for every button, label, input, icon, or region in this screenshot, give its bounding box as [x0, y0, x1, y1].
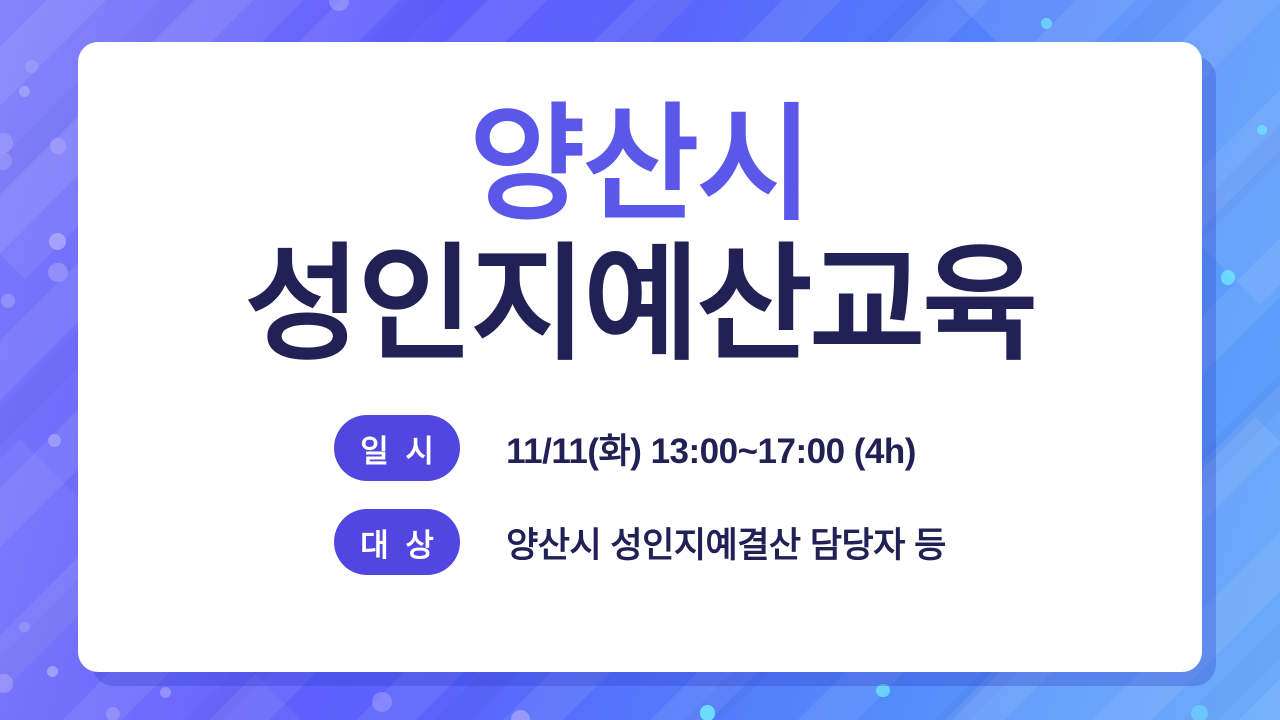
title-block: 양산시 성인지예산교육: [78, 42, 1202, 371]
info-row-value: 11/11(화) 13:00~17:00 (4h): [506, 423, 916, 474]
background-dot: [19, 86, 30, 97]
background-dot: [48, 434, 61, 447]
background-dot: [49, 233, 66, 250]
content-card: 양산시 성인지예산교육 일 시11/11(화) 13:00~17:00 (4h)…: [78, 42, 1202, 672]
background-dot: [372, 692, 392, 712]
background-dot: [1221, 270, 1235, 284]
background-dot: [25, 60, 38, 73]
page-title-main: 성인지예산교육: [78, 238, 1202, 372]
banner-stage: 양산시 성인지예산교육 일 시11/11(화) 13:00~17:00 (4h)…: [0, 0, 1280, 720]
background-dot: [50, 138, 65, 153]
page-title-accent: 양산시: [78, 98, 1202, 232]
info-row: 일 시11/11(화) 13:00~17:00 (4h): [334, 415, 946, 481]
info-row: 대 상양산시 성인지예결산 담당자 등: [334, 509, 946, 575]
background-dot: [47, 666, 58, 677]
background-dot: [1041, 18, 1052, 29]
info-row-value: 양산시 성인지예결산 담당자 등: [506, 517, 946, 568]
background-dot: [19, 622, 30, 633]
background-dot: [1191, 705, 1208, 720]
info-row-label-badge: 일 시: [334, 415, 460, 481]
info-list: 일 시11/11(화) 13:00~17:00 (4h)대 상양산시 성인지예결…: [334, 415, 946, 575]
background-dot: [106, 707, 120, 720]
info-row-label-badge: 대 상: [334, 509, 460, 575]
background-dot: [48, 263, 67, 282]
background-dot: [700, 705, 716, 720]
background-dot: [1257, 125, 1267, 135]
